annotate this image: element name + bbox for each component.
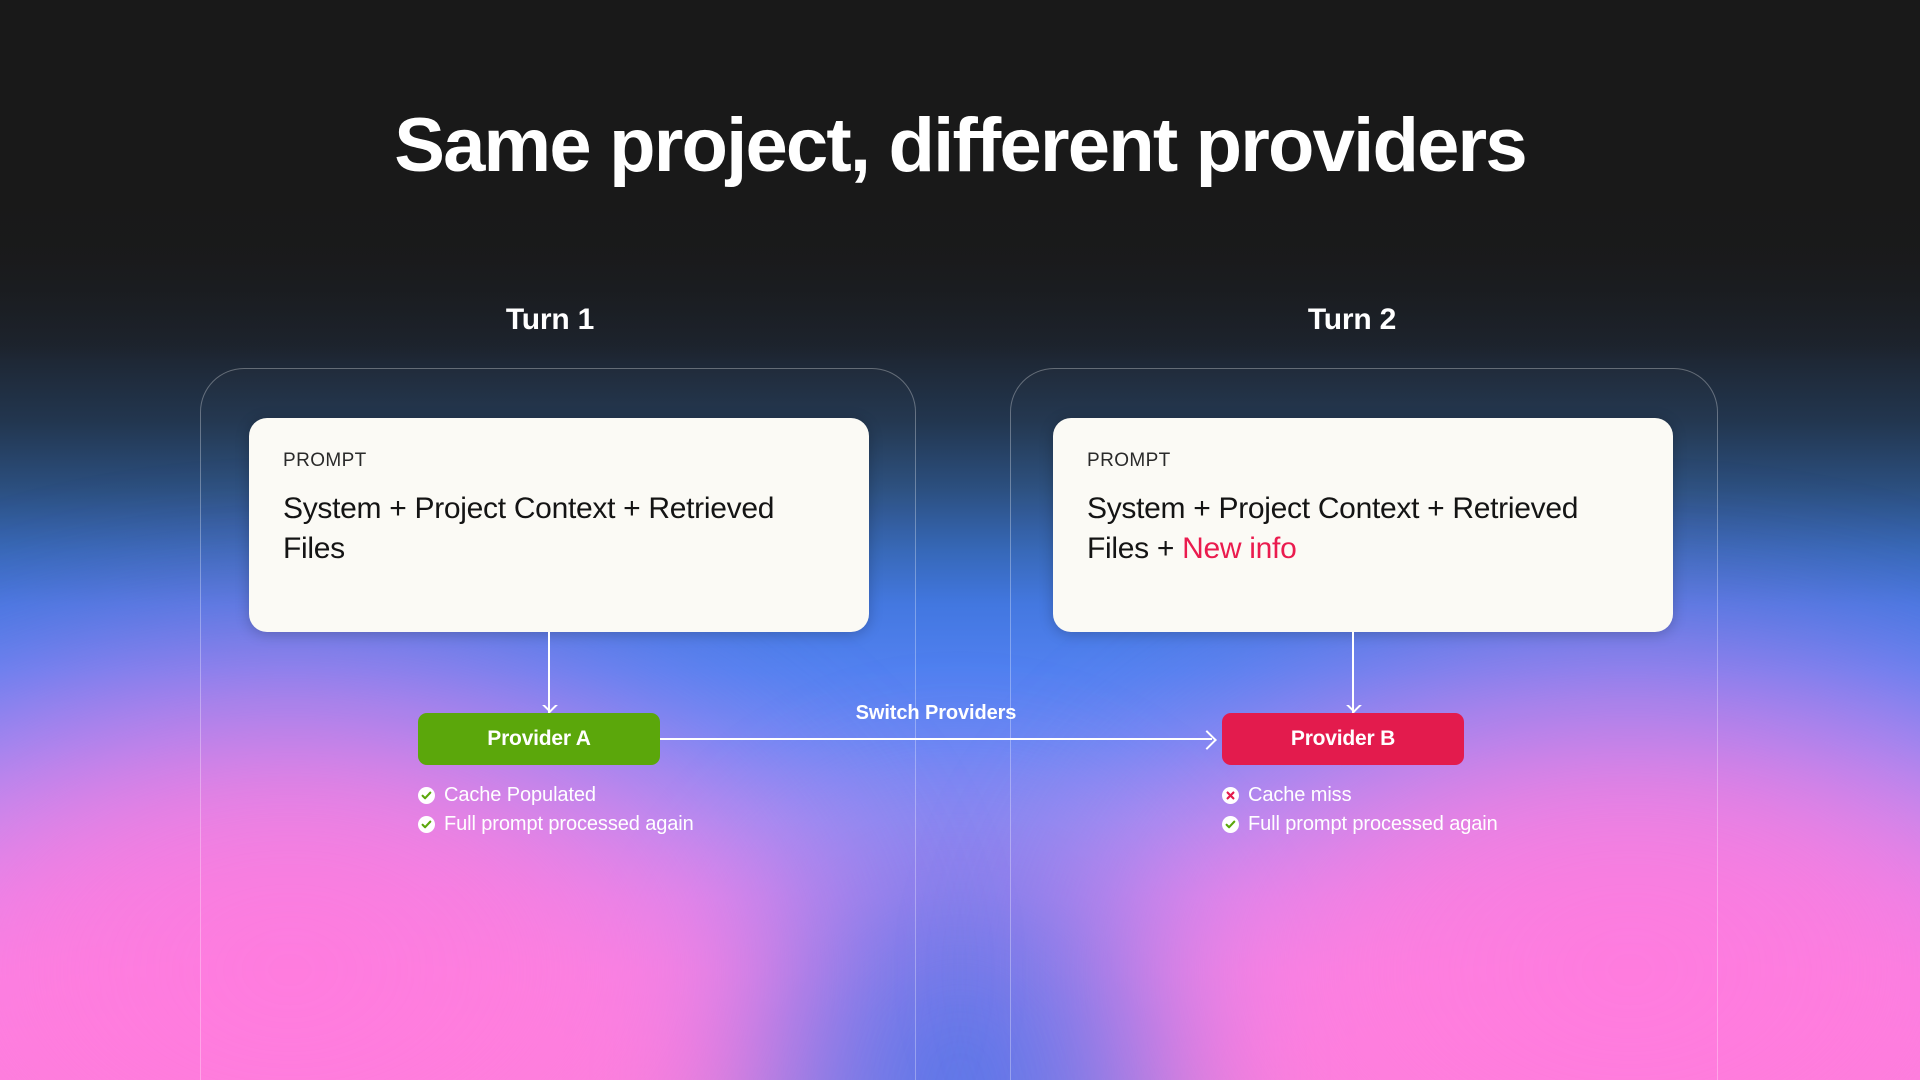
- status-label: Cache miss: [1248, 784, 1351, 807]
- prompt-body: System + Project Context + Retrieved Fil…: [283, 489, 835, 569]
- status-label: Full prompt processed again: [1248, 813, 1498, 836]
- provider-a-chip[interactable]: Provider A: [418, 713, 660, 765]
- status-list-turn-1: Cache Populated Full prompt processed ag…: [418, 784, 694, 842]
- x-circle-icon: [1222, 787, 1239, 804]
- status-label: Cache Populated: [444, 784, 596, 807]
- check-circle-icon: [418, 816, 435, 833]
- status-list-turn-2: Cache miss Full prompt processed again: [1222, 784, 1498, 842]
- check-circle-icon: [1222, 816, 1239, 833]
- status-item: Cache miss: [1222, 784, 1498, 807]
- page-title: Same project, different providers: [0, 108, 1920, 184]
- turn-label-2: Turn 2: [1222, 303, 1482, 337]
- prompt-text: System + Project Context + Retrieved Fil…: [283, 492, 774, 565]
- arrow-right-icon: [1200, 731, 1216, 747]
- diagram-canvas: Same project, different providers Turn 1…: [0, 0, 1920, 1080]
- prompt-card-turn-1: PROMPT System + Project Context + Retrie…: [249, 418, 869, 632]
- check-circle-icon: [418, 787, 435, 804]
- prompt-kicker: PROMPT: [283, 450, 835, 472]
- provider-b-label: Provider B: [1291, 727, 1395, 751]
- status-item: Full prompt processed again: [1222, 813, 1498, 836]
- prompt-highlight-new-info: New info: [1182, 532, 1296, 565]
- prompt-text: System + Project Context + Retrieved Fil…: [1087, 492, 1578, 565]
- prompt-kicker: PROMPT: [1087, 450, 1639, 472]
- provider-b-chip[interactable]: Provider B: [1222, 713, 1464, 765]
- status-item: Full prompt processed again: [418, 813, 694, 836]
- arrow-down-turn-2-icon: [1341, 632, 1365, 718]
- switch-providers-label: Switch Providers: [660, 702, 1212, 725]
- status-label: Full prompt processed again: [444, 813, 694, 836]
- provider-a-label: Provider A: [487, 727, 590, 751]
- status-item: Cache Populated: [418, 784, 694, 807]
- arrow-down-turn-1-icon: [537, 632, 561, 718]
- switch-providers-line: [660, 738, 1212, 740]
- prompt-card-turn-2: PROMPT System + Project Context + Retrie…: [1053, 418, 1673, 632]
- turn-label-1: Turn 1: [420, 303, 680, 337]
- prompt-body: System + Project Context + Retrieved Fil…: [1087, 489, 1639, 569]
